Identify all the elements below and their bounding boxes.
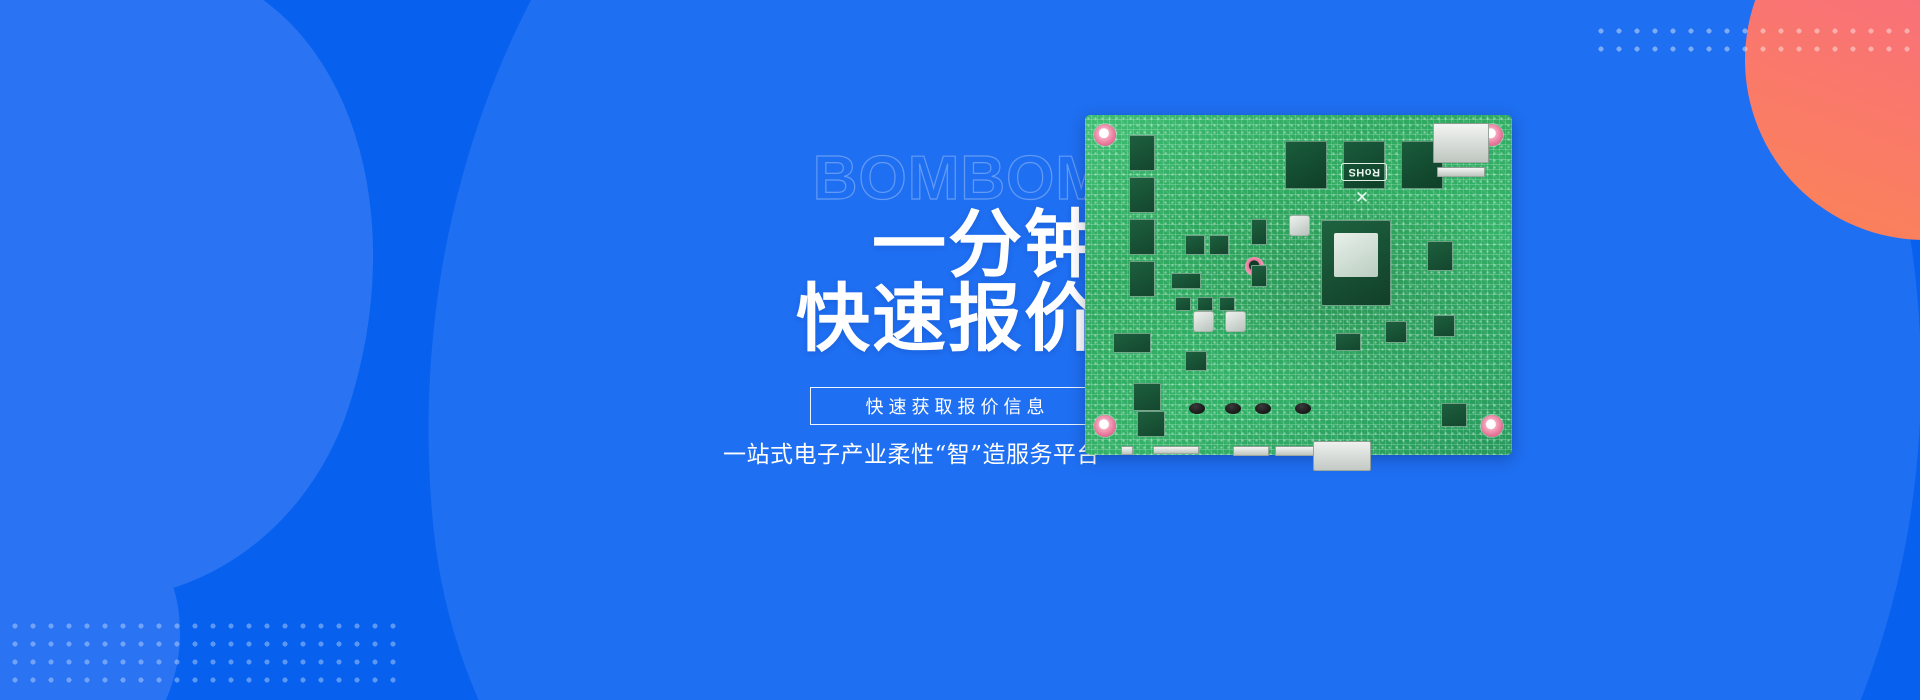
ic-chip [1219, 297, 1235, 311]
mounting-hole-icon [1094, 415, 1116, 437]
ic-chip [1335, 333, 1361, 351]
cpu-chip [1321, 220, 1391, 306]
blue-blob-shape [0, 0, 463, 663]
ic-chip [1197, 297, 1213, 311]
dot-grid-top-right [1592, 22, 1920, 56]
ic-chip [1185, 351, 1207, 371]
capacitor-component [1189, 403, 1205, 414]
inductor-component [1289, 215, 1310, 236]
ic-chip [1171, 273, 1201, 289]
headline-line-1: 一分钟 [872, 210, 1100, 281]
rohs-x-icon: ✕ [1353, 189, 1371, 207]
boxed-subtitle[interactable]: 快速获取报价信息 [810, 387, 1100, 425]
dot-grid-bottom-left [6, 617, 396, 687]
ic-chip [1133, 383, 1161, 411]
pcb-substrate: RoHS ✕ [1085, 115, 1512, 455]
mounting-hole-icon [1481, 415, 1503, 437]
io-connector [1433, 123, 1489, 163]
ic-chip [1251, 219, 1267, 245]
ic-chip [1129, 177, 1155, 213]
ic-chip [1129, 135, 1155, 171]
ic-chip [1113, 333, 1151, 353]
ic-chip [1129, 261, 1155, 297]
ic-chip [1137, 411, 1165, 437]
io-connector-bottom [1121, 446, 1133, 455]
pcb-board-image: RoHS ✕ [1085, 115, 1512, 455]
ic-chip [1185, 235, 1205, 255]
capacitor-component [1225, 403, 1241, 414]
io-connector-bottom [1233, 446, 1269, 456]
ic-chip [1385, 321, 1407, 343]
headline-line-2: 快速报价 [796, 284, 1100, 355]
blue-blob-tail-shape [0, 75, 356, 646]
inductor-component [1193, 311, 1214, 332]
capacitor-component [1255, 403, 1271, 414]
rohs-label: RoHS [1341, 163, 1387, 181]
ic-chip [1441, 403, 1467, 427]
ic-chip [1433, 315, 1455, 337]
promo-banner: BOMBOM 一分钟 快速报价 快速获取报价信息 一站式电子产业柔性“智”造服务… [0, 0, 1920, 700]
ic-chip [1427, 241, 1453, 271]
ic-chip [1251, 265, 1267, 287]
mounting-hole-icon [1094, 124, 1116, 146]
tagline-text: 一站式电子产业柔性“智”造服务平台 [723, 435, 1100, 469]
banner-copy: BOMBOM 一分钟 快速报价 快速获取报价信息 一站式电子产业柔性“智”造服务… [680, 150, 1100, 430]
io-connector [1437, 167, 1485, 177]
usb-connector-bottom [1313, 441, 1371, 471]
inductor-component [1225, 311, 1246, 332]
ic-chip [1175, 297, 1191, 311]
watermark-text: BOMBOM [813, 148, 1108, 210]
ic-chip [1129, 219, 1155, 255]
io-connector-bottom [1153, 446, 1199, 454]
ic-chip [1209, 235, 1229, 255]
memory-chip [1285, 141, 1327, 189]
capacitor-component [1295, 403, 1311, 414]
